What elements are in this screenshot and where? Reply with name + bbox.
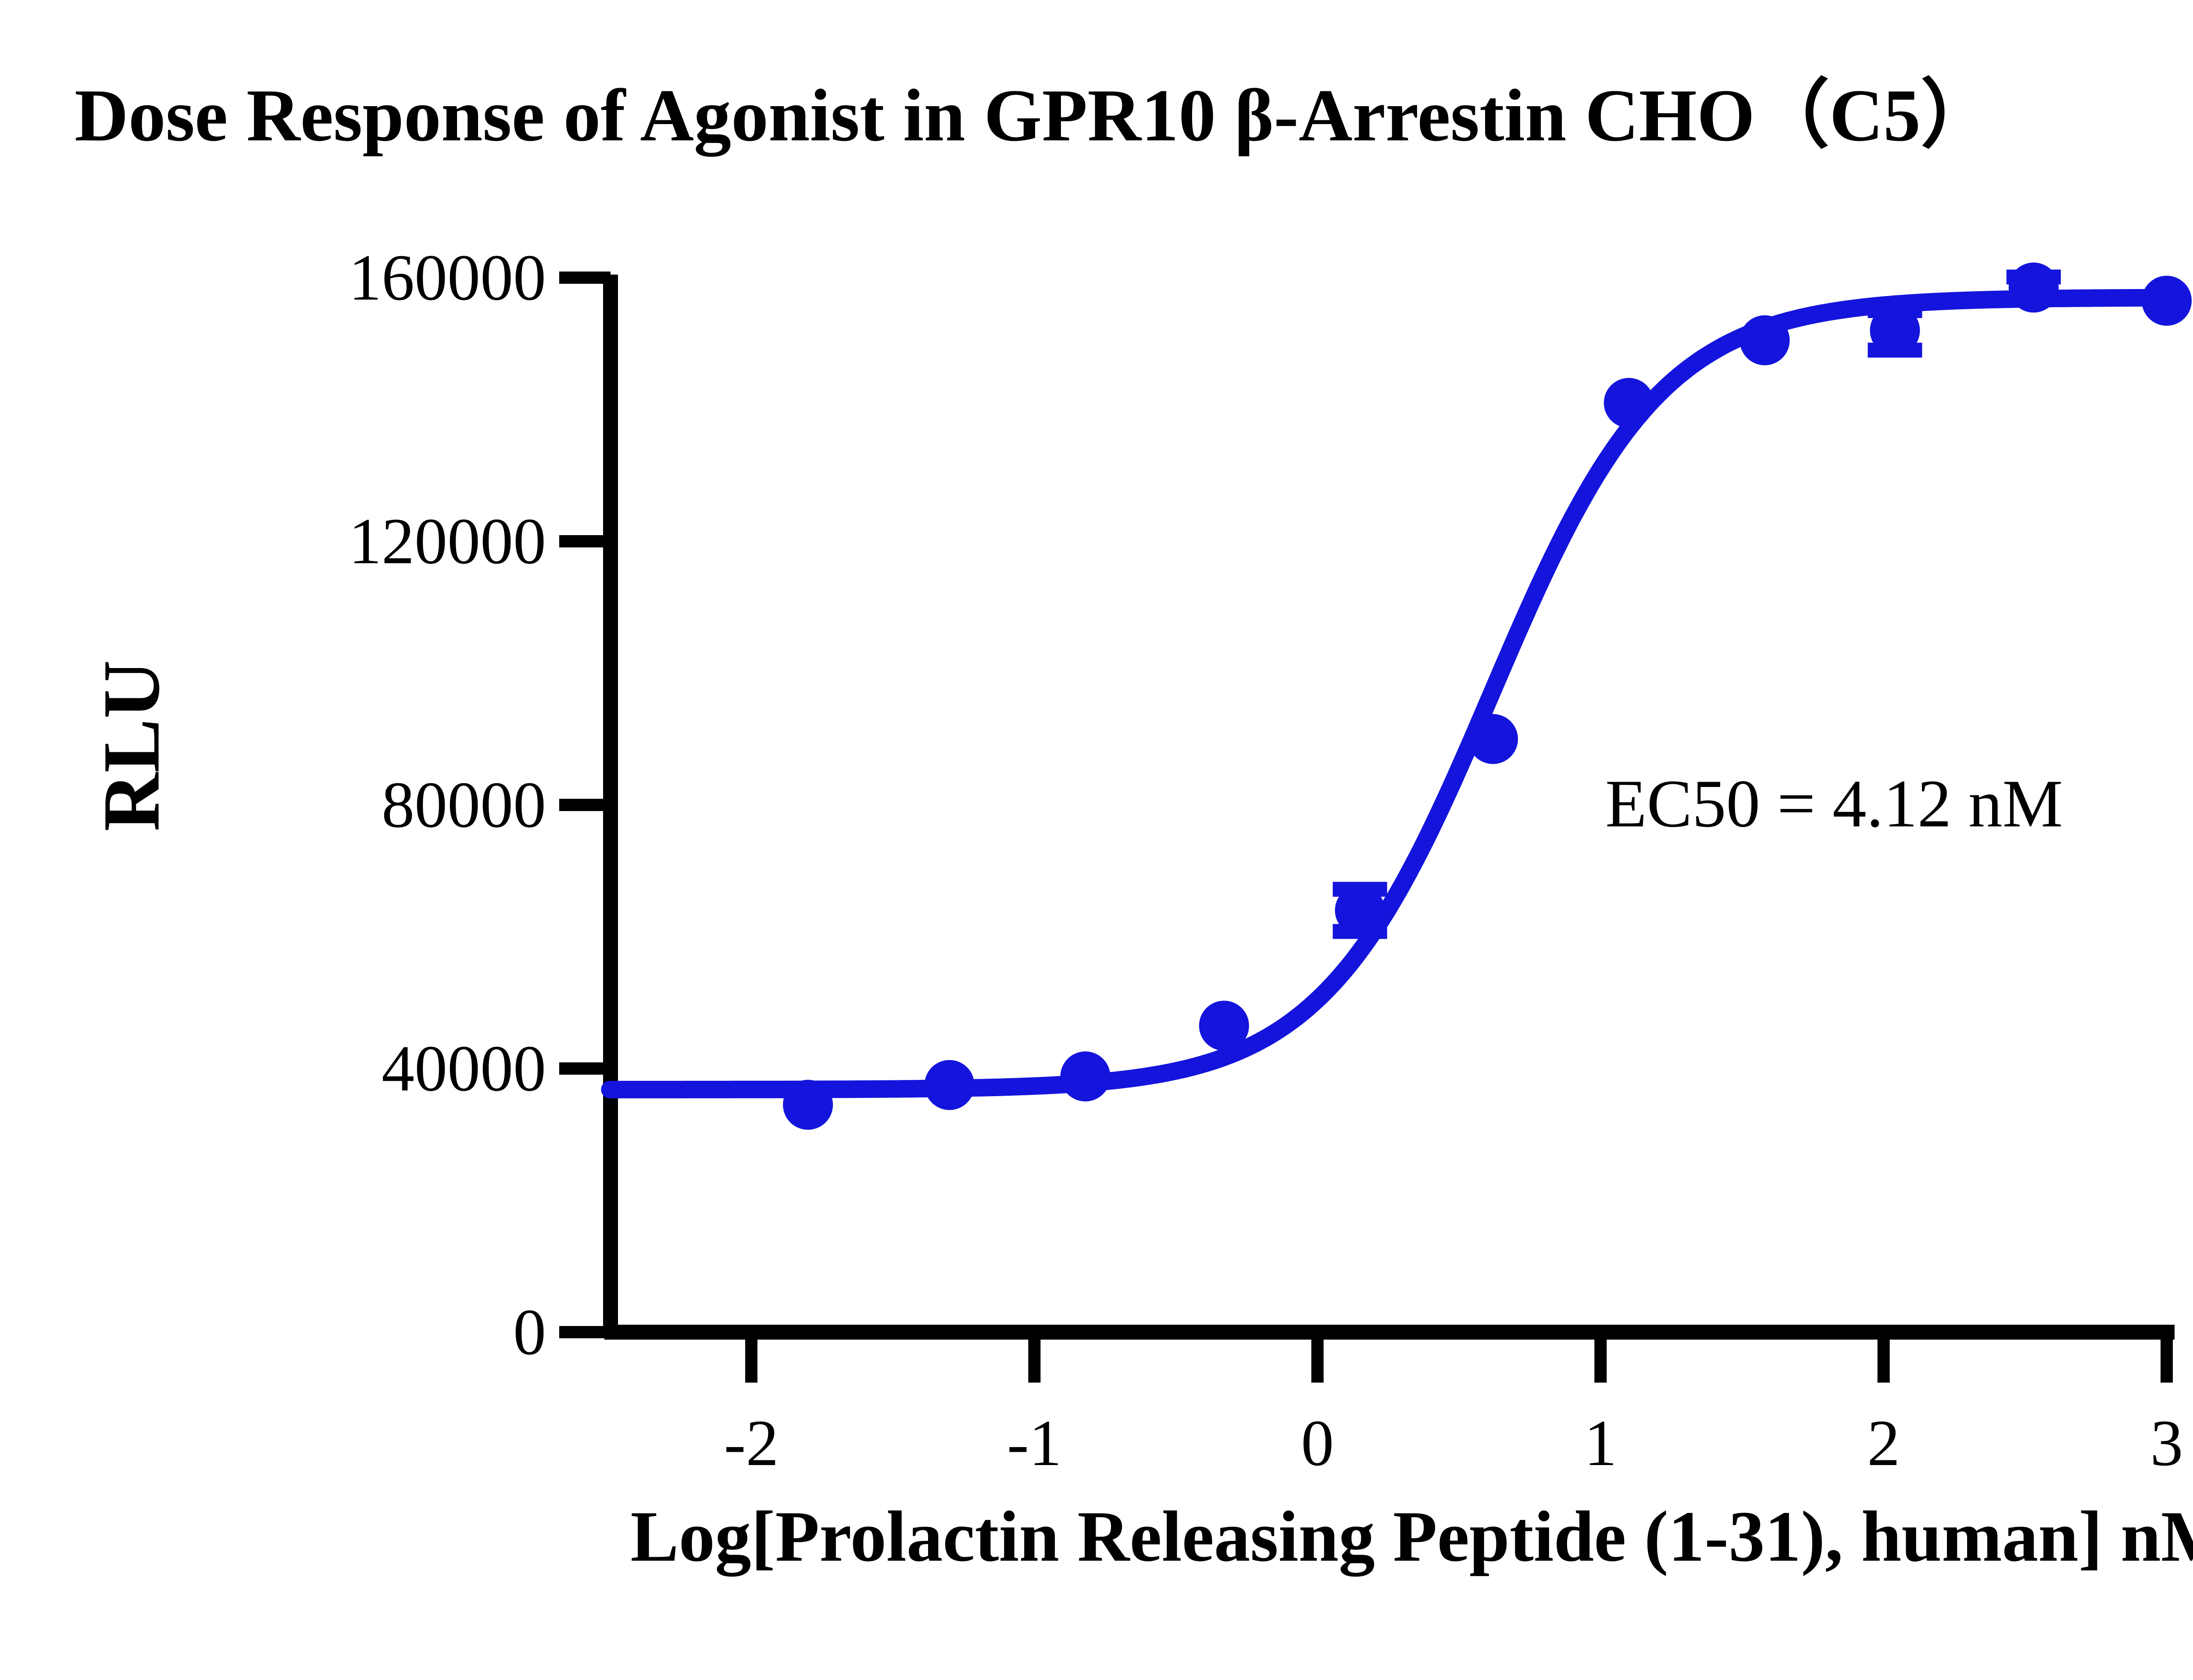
data-point-marker <box>1199 1001 1249 1051</box>
data-point-marker <box>925 1060 975 1110</box>
data-point-marker <box>1061 1051 1111 1101</box>
data-point-marker <box>1870 305 1920 355</box>
x-axis-ticks <box>751 1332 2167 1383</box>
chart-figure: Dose Response of Agonist in GPR10 β-Arre… <box>0 0 2193 1680</box>
error-bars <box>1333 277 2061 931</box>
data-point-marker <box>1468 714 1518 764</box>
data-point-marker <box>2009 263 2059 313</box>
axis-lines <box>604 275 2175 1335</box>
plot-area <box>0 0 2193 1680</box>
y-axis-ticks <box>559 278 611 1332</box>
fit-curve-line <box>610 298 2181 1090</box>
data-point-marker <box>2142 276 2192 326</box>
data-point-marker <box>1604 378 1654 428</box>
data-point-marker <box>783 1080 833 1130</box>
data-point-marker <box>1740 315 1790 365</box>
data-point-marker <box>1335 885 1385 935</box>
